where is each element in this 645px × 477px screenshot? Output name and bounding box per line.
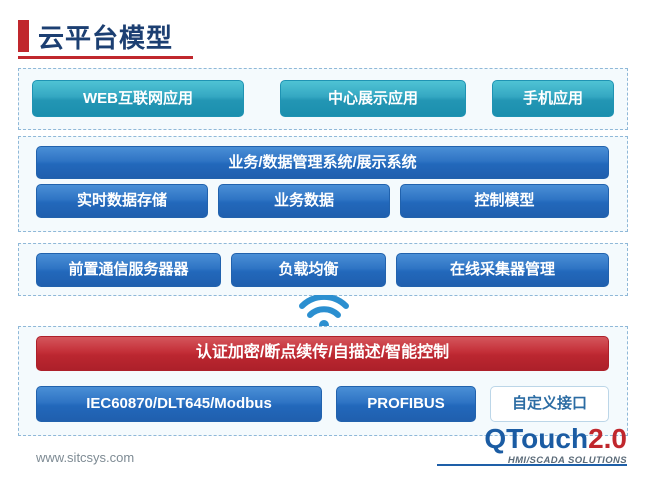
box-load-balancing[interactable]: 负载均衡 — [231, 253, 386, 287]
box-mobile-app[interactable]: 手机应用 — [492, 80, 614, 117]
box-front-end-comm-server[interactable]: 前置通信服务器器 — [36, 253, 221, 287]
box-control-model[interactable]: 控制模型 — [400, 184, 609, 218]
logo-touch: Touch — [506, 423, 588, 454]
logo-wordmark: QTouch2.0 — [437, 424, 627, 454]
box-auth-encryption-resume-selfdescribe-control[interactable]: 认证加密/断点续传/自描述/智能控制 — [36, 336, 609, 371]
box-web-app[interactable]: WEB互联网应用 — [32, 80, 244, 117]
logo-version: 2.0 — [588, 423, 627, 454]
title-underline — [18, 56, 193, 59]
website-url: www.sitcsys.com — [36, 450, 134, 465]
slide-canvas: 云平台模型 WEB互联网应用 中心展示应用 手机应用 业务/数据管理系统/展示系… — [0, 0, 645, 477]
box-business-data-management-system[interactable]: 业务/数据管理系统/展示系统 — [36, 146, 609, 179]
box-center-display-app[interactable]: 中心展示应用 — [280, 80, 466, 117]
logo-divider — [437, 464, 627, 466]
logo-q: Q — [484, 423, 506, 454]
box-protocol-iec60870-dlt645-modbus[interactable]: IEC60870/DLT645/Modbus — [36, 386, 322, 422]
qtouch-logo: QTouch2.0 HMI/SCADA SOLUTIONS — [437, 424, 627, 468]
box-online-collector-management[interactable]: 在线采集器管理 — [396, 253, 609, 287]
box-realtime-data-storage[interactable]: 实时数据存储 — [36, 184, 208, 218]
title-text: 云平台模型 — [38, 18, 173, 55]
box-custom-interface[interactable]: 自定义接口 — [490, 386, 609, 422]
box-business-data[interactable]: 业务数据 — [218, 184, 390, 218]
title-accent-bar — [18, 20, 29, 52]
page-title: 云平台模型 — [18, 18, 628, 56]
box-protocol-profibus[interactable]: PROFIBUS — [336, 386, 476, 422]
